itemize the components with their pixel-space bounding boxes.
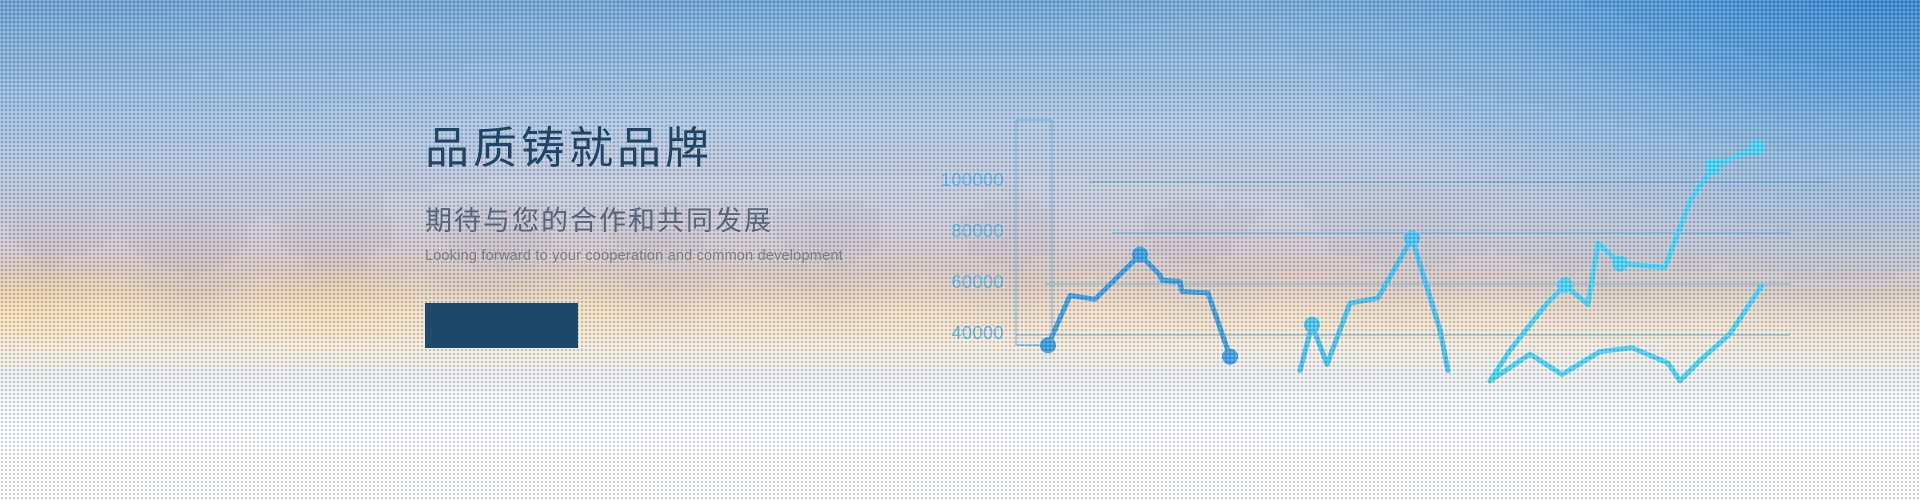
page-title: 品质铸就品牌	[425, 125, 985, 173]
chart-point-marker	[1404, 230, 1420, 246]
chart-line	[1490, 285, 1762, 381]
chart-point-marker	[1222, 349, 1238, 365]
subtitle-en: Looking forward to your cooperation and …	[425, 248, 985, 264]
cta-button[interactable]	[425, 303, 578, 348]
chart-line	[1300, 238, 1448, 371]
y-axis-tick-label: 40000	[904, 323, 1004, 344]
chart-line	[1048, 255, 1230, 357]
chart-point-marker	[1557, 277, 1573, 293]
chart-point-marker	[1040, 337, 1056, 353]
chart-point-marker	[1749, 140, 1765, 156]
subtitle-cn: 期待与您的合作和共同发展	[425, 199, 985, 238]
chart-point-marker	[1612, 256, 1628, 272]
chart-point-marker	[1132, 247, 1148, 263]
axis-highlight-box	[1016, 120, 1052, 345]
chart-point-marker	[1705, 159, 1721, 175]
y-axis-tick-label: 60000	[904, 272, 1004, 293]
banner-copy: 品质铸就品牌 期待与您的合作和共同发展 Looking forward to y…	[425, 125, 985, 264]
hero-banner: 400006000080000100000 品质铸就品牌 期待与您的合作和共同发…	[0, 0, 1920, 500]
chart-point-marker	[1304, 317, 1320, 333]
